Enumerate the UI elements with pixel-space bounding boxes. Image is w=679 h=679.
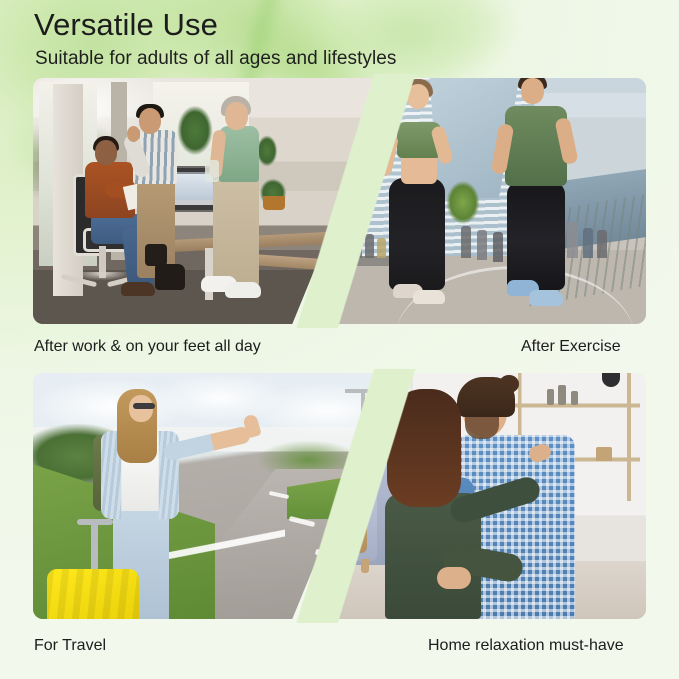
background-person bbox=[477, 230, 487, 260]
person-standing-shoe bbox=[155, 264, 185, 290]
background-person bbox=[377, 238, 386, 258]
person-standing-shoe bbox=[145, 244, 167, 266]
runner-man-legs bbox=[507, 182, 565, 290]
sunglasses-icon bbox=[133, 403, 155, 409]
person-leaning-legs bbox=[213, 178, 259, 286]
background-person bbox=[353, 236, 362, 258]
person-seated-shoe bbox=[121, 282, 155, 296]
background-person bbox=[597, 230, 607, 258]
runner-woman-legs bbox=[389, 178, 445, 290]
runner-man-head bbox=[521, 78, 544, 104]
person-leaning-head bbox=[225, 102, 248, 130]
runner-woman-head bbox=[407, 84, 429, 109]
runner-woman-shoe bbox=[413, 290, 445, 304]
utility-pole bbox=[361, 389, 365, 447]
shelf-jar bbox=[571, 391, 578, 405]
shelf-jar bbox=[558, 385, 566, 405]
versatile-use-poster: Versatile Use Suitable for adults of all… bbox=[0, 0, 679, 679]
runner-man-tshirt bbox=[505, 106, 567, 186]
caption-after-work: After work & on your feet all day bbox=[34, 337, 261, 357]
page-title: Versatile Use bbox=[34, 6, 218, 44]
woman-curly-hair bbox=[387, 389, 461, 507]
caption-home-relaxation: Home relaxation must-have bbox=[428, 636, 624, 656]
road-edge-line bbox=[165, 471, 285, 619]
person-leaning-sneaker bbox=[225, 282, 261, 298]
utility-pole-arm bbox=[345, 389, 379, 393]
background-person bbox=[365, 234, 374, 258]
person-standing-hand bbox=[127, 126, 140, 142]
office-drink-cup bbox=[205, 160, 219, 182]
man-hair bbox=[457, 377, 515, 417]
suitcase-handle bbox=[91, 521, 98, 573]
office-desk-leg bbox=[205, 248, 213, 300]
person-seated-head bbox=[95, 140, 117, 165]
shelf-box bbox=[596, 447, 612, 461]
page-subtitle: Suitable for adults of all ages and life… bbox=[35, 47, 396, 71]
runner-man-shoe bbox=[529, 290, 563, 306]
caption-for-travel: For Travel bbox=[34, 636, 106, 656]
caption-after-exercise: After Exercise bbox=[521, 337, 621, 357]
yellow-suitcase-ribs bbox=[47, 569, 139, 619]
person-standing-head bbox=[139, 108, 161, 134]
runner-woman-midriff bbox=[401, 154, 437, 184]
office-plant-pot bbox=[263, 196, 285, 210]
woman-hand bbox=[437, 567, 471, 589]
man-beard bbox=[465, 417, 499, 439]
gallery-row-bottom bbox=[33, 373, 646, 619]
sofa-leg bbox=[361, 559, 369, 573]
background-person bbox=[567, 222, 578, 258]
background-person bbox=[493, 232, 503, 262]
gallery-row-top bbox=[33, 78, 646, 324]
background-person bbox=[583, 228, 593, 258]
shelf-jar bbox=[547, 389, 554, 405]
background-person bbox=[461, 226, 471, 258]
